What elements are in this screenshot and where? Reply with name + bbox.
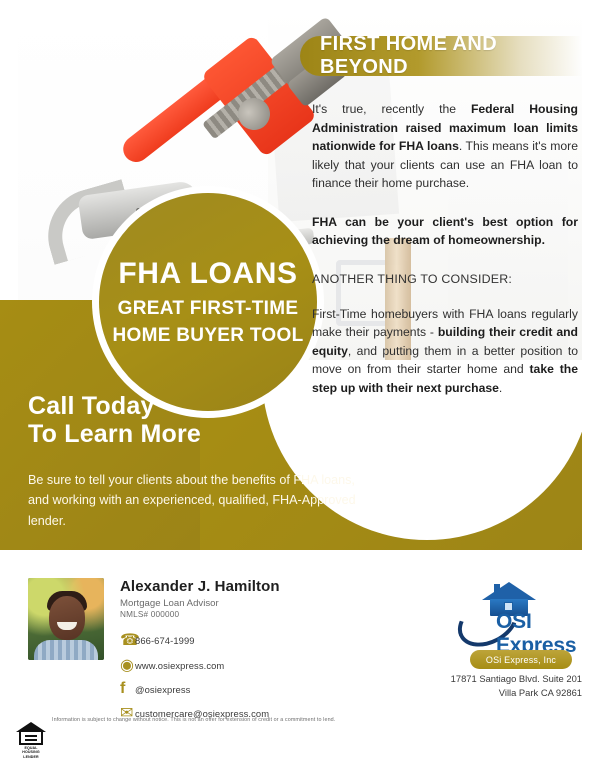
cta-note: Be sure to tell your clients about the b… (28, 470, 358, 531)
avatar-shirt (34, 640, 98, 660)
contact-website-text: www.osiexpress.com (135, 660, 224, 671)
headline-line-2: GREAT FIRST-TIME (118, 299, 299, 319)
advisor-nmls: NMLS# 000000 (120, 610, 370, 619)
contact-phone-text: 866-674-1999 (135, 635, 195, 646)
contact-row-phone[interactable]: ☎ 866-674-1999 (120, 630, 370, 650)
advisor-name: Alexander J. Hamilton (120, 578, 370, 595)
subheading-another-thing: ANOTHER THING TO CONSIDER: (312, 270, 578, 289)
ehl-equals-top (25, 735, 37, 737)
body-copy: It's true, recently the Federal Housing … (312, 100, 578, 413)
header-banner: FIRST HOME AND BEYOND (300, 36, 582, 76)
paragraph-two: FHA can be your client's best option for… (312, 213, 578, 250)
paragraph-three: First-Time homebuyers with FHA loans reg… (312, 305, 578, 398)
logo-house-roof (482, 582, 536, 600)
headline-circle: FHA LOANS GREAT FIRST-TIME HOME BUYER TO… (99, 193, 317, 411)
ehl-equals-bottom (25, 739, 37, 741)
address-line-2: Villa Park CA 92861 (400, 686, 582, 700)
advisor-details: Alexander J. Hamilton Mortgage Loan Advi… (120, 578, 370, 728)
company-address: 17871 Santiago Blvd. Suite 201 Villa Par… (400, 672, 582, 699)
globe-icon: ◉ (120, 655, 135, 675)
cta-line-1: Call Today (28, 392, 201, 420)
address-line-1: 17871 Santiago Blvd. Suite 201 (400, 672, 582, 686)
equal-housing-lender-icon: EQUAL HOUSING LENDER (16, 722, 46, 754)
contact-row-website[interactable]: ◉ www.osiexpress.com (120, 655, 370, 675)
headline-line-1: FHA LOANS (118, 258, 297, 290)
p3-part-e: . (499, 381, 502, 395)
phone-icon: ☎ (120, 630, 135, 650)
contact-list: ☎ 866-674-1999 ◉ www.osiexpress.com f @o… (120, 630, 370, 723)
advisor-avatar (28, 578, 104, 660)
advisor-title: Mortgage Loan Advisor (120, 598, 370, 609)
cta-line-2: To Learn More (28, 420, 201, 448)
p1-part-a: It's true, recently the (312, 102, 471, 116)
p2-text: FHA can be your client's best option for… (312, 215, 578, 248)
avatar-face (49, 596, 85, 640)
ehl-label: EQUAL HOUSING LENDER (16, 746, 46, 759)
header-banner-title: FIRST HOME AND BEYOND (300, 33, 582, 79)
call-to-action-heading: Call Today To Learn More (28, 392, 201, 448)
contact-row-facebook[interactable]: f @osiexpress (120, 680, 370, 698)
contact-facebook-text: @osiexpress (135, 684, 190, 695)
legal-disclaimer: Information is subject to change without… (52, 716, 472, 724)
company-logo: OSI Express (456, 582, 582, 638)
ehl-body (19, 731, 43, 745)
company-name-badge: OSi Express, Inc (470, 650, 572, 669)
facebook-icon: f (120, 680, 135, 698)
flyer-page: FHA LOANS GREAT FIRST-TIME HOME BUYER TO… (0, 0, 600, 776)
company-name-badge-label: OSi Express, Inc (486, 655, 556, 665)
ehl-house-shape (16, 722, 46, 746)
paragraph-one: It's true, recently the Federal Housing … (312, 100, 578, 193)
headline-line-3: HOME BUYER TOOL (113, 326, 304, 346)
